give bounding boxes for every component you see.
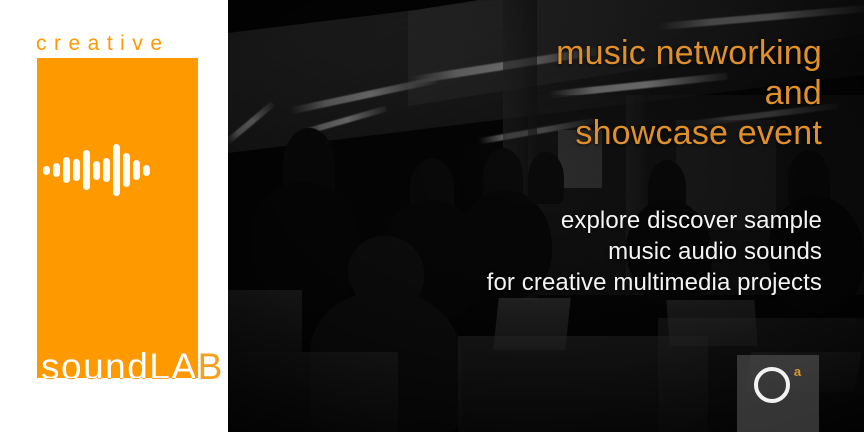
waveform-bar-5 [83,150,90,190]
circle-ring-icon [754,367,790,403]
headline-line-3: showcase event [302,114,822,154]
brand-logo-panel: creative soundLAB soundLAB soundLAB [0,0,228,432]
waveform-bar-4 [73,159,80,181]
audio-waveform-icon [55,142,137,198]
waveform-bar-3 [63,157,70,183]
waveform-bar-6 [93,161,100,180]
waveform-bar-2 [53,163,60,177]
headline-line-1: music networking [302,34,822,74]
logo-word-creative: creative [36,33,206,54]
headline-line-2: and [302,74,822,114]
partner-logo-badge: a [737,355,819,432]
subheadline: explore discover sample music audio soun… [282,205,822,299]
logo-orange-block [37,58,198,378]
logo-word-soundlab-overflow: soundLAB [198,340,228,394]
logo-word-soundlab-descender-text: soundLAB [41,378,198,394]
logo-word-soundlab-descender: soundLAB [37,378,198,400]
event-poster: music networking and showcase event expl… [0,0,864,432]
waveform-bar-9 [123,153,130,187]
waveform-bar-8 [113,144,120,196]
headline: music networking and showcase event [302,34,822,153]
logo-word-soundlab-overflow-text: soundLAB [198,340,224,394]
subheadline-line-3: for creative multimedia projects [282,267,822,298]
waveform-bar-1 [43,166,50,175]
waveform-bar-7 [103,158,110,182]
badge-superscript-a: a [790,364,805,379]
waveform-bar-11 [143,165,150,176]
subheadline-line-2: music audio sounds [282,236,822,267]
subheadline-line-1: explore discover sample [282,205,822,236]
waveform-bar-10 [133,160,140,180]
